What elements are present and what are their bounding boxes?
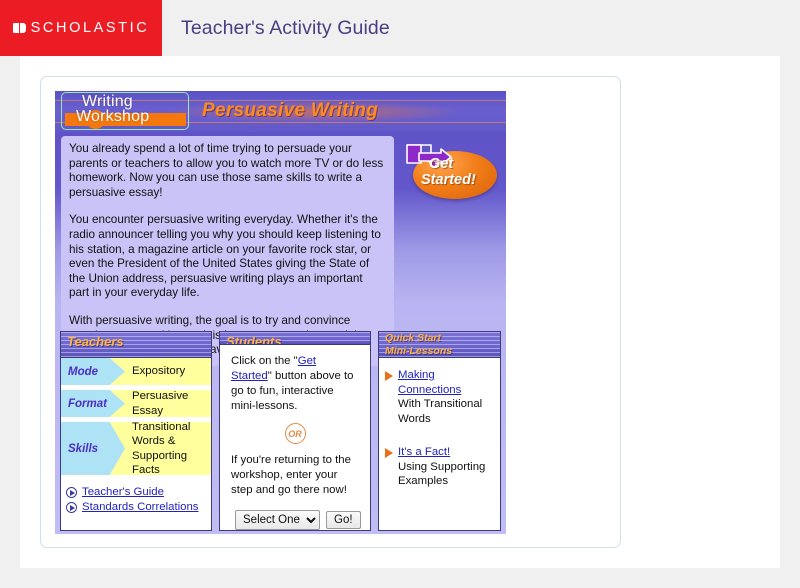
teachers-panel: Teachers Mode Expository — [60, 331, 212, 531]
students-instructions: Click on the "Get Started" button above … — [231, 354, 359, 414]
row-label-format: Format — [61, 390, 125, 417]
get-started-line-2: Started! — [421, 172, 497, 188]
quickstart-title-line-1: Quick Start — [385, 332, 452, 345]
quickstart-item-text: Making Connections With Transitional Wor… — [398, 368, 494, 426]
teachers-panel-header: Teachers — [61, 332, 211, 358]
intro-paragraph-2: You encounter persuasive writing everyda… — [69, 213, 386, 301]
its-a-fact-link[interactable]: It's a Fact! — [398, 446, 450, 458]
play-circle-icon — [66, 487, 77, 498]
get-started-line-1: Get — [429, 156, 453, 172]
row-label-skills: Skills — [61, 422, 125, 475]
list-item[interactable]: It's a Fact! Using Supporting Examples — [385, 445, 494, 489]
quickstart-item-text: It's a Fact! Using Supporting Examples — [398, 445, 494, 489]
page-canvas: Writing Workshop Persuasive Writing You … — [20, 56, 780, 568]
play-circle-icon — [66, 502, 77, 513]
quickstart-panel-body: Making Connections With Transitional Wor… — [379, 358, 500, 530]
quickstart-panel-title: Quick Start Mini-Lessons — [385, 332, 452, 357]
row-label-text: Skills — [68, 443, 98, 455]
students-returning-text: If you're returning to the workshop, ent… — [231, 453, 359, 498]
table-row: Mode Expository — [61, 358, 211, 385]
list-item[interactable]: Teacher's Guide — [66, 486, 211, 498]
scholastic-logo[interactable]: SCHOLASTIC — [0, 0, 162, 56]
students-panel-header: Students — [220, 332, 370, 345]
teachers-links: Teacher's Guide Standards Correlations — [61, 480, 211, 513]
or-badge: OR — [285, 423, 306, 444]
row-value-skills: Transitional Words & Supporting Facts — [125, 422, 211, 475]
activity-area: Writing Workshop Persuasive Writing You … — [55, 91, 506, 534]
students-text-before: Click on the " — [231, 355, 298, 367]
scholastic-wordmark: SCHOLASTIC — [31, 20, 150, 36]
standards-correlations-link[interactable]: Standards Correlations — [82, 501, 199, 513]
intro-paragraph-1: You already spend a lot of time trying t… — [69, 142, 386, 200]
row-value-format: Persuasive Essay — [125, 390, 211, 417]
page-title: Teacher's Activity Guide — [162, 0, 390, 56]
step-picker-row: Select One Go! — [231, 510, 359, 530]
top-brand-bar: SCHOLASTIC Teacher's Activity Guide — [0, 0, 800, 56]
row-label-text: Format — [68, 398, 107, 410]
get-started-button[interactable]: Get Started! — [401, 143, 499, 201]
teachers-guide-link[interactable]: Teacher's Guide — [82, 486, 164, 498]
table-row: Skills Transitional Words & Supporting F… — [61, 422, 211, 475]
its-a-fact-desc: Using Supporting Examples — [398, 460, 494, 489]
making-connections-link[interactable]: Making Connections — [398, 369, 461, 396]
teachers-panel-title: Teachers — [67, 335, 124, 348]
triangle-bullet-icon — [385, 448, 393, 458]
row-label-mode: Mode — [61, 358, 125, 385]
triangle-bullet-icon — [385, 371, 393, 381]
students-panel-title: Students — [226, 335, 282, 345]
quickstart-title-line-2: Mini-Lessons — [385, 345, 452, 358]
or-divider: OR — [231, 423, 359, 444]
row-label-text: Mode — [68, 366, 98, 378]
logo-line-2: Workshop — [76, 108, 149, 126]
open-book-icon — [13, 23, 26, 33]
quickstart-panel: Quick Start Mini-Lessons Making Connecti… — [378, 331, 501, 531]
list-item[interactable]: Making Connections With Transitional Wor… — [385, 368, 494, 426]
students-panel-body: Click on the "Get Started" button above … — [220, 345, 370, 530]
table-row: Format Persuasive Essay — [61, 390, 211, 417]
list-item[interactable]: Standards Correlations — [66, 501, 211, 513]
writing-workshop-logo[interactable]: Writing Workshop — [61, 92, 189, 130]
get-started-label: Get Started! — [429, 156, 497, 188]
step-select[interactable]: Select One — [235, 510, 320, 530]
row-value-mode: Expository — [125, 358, 211, 385]
quickstart-panel-header: Quick Start Mini-Lessons — [379, 332, 500, 358]
panels-row: Teachers Mode Expository — [60, 331, 501, 531]
teachers-panel-body: Mode Expository Format Persuasive Essay — [61, 358, 211, 530]
workshop-header: Writing Workshop Persuasive Writing — [55, 91, 506, 132]
making-connections-desc: With Transitional Words — [398, 397, 494, 426]
activity-title: Persuasive Writing — [202, 100, 378, 122]
students-panel: Students Click on the "Get Started" butt… — [219, 331, 371, 531]
content-frame: Writing Workshop Persuasive Writing You … — [40, 76, 621, 548]
go-button[interactable]: Go! — [326, 511, 361, 529]
